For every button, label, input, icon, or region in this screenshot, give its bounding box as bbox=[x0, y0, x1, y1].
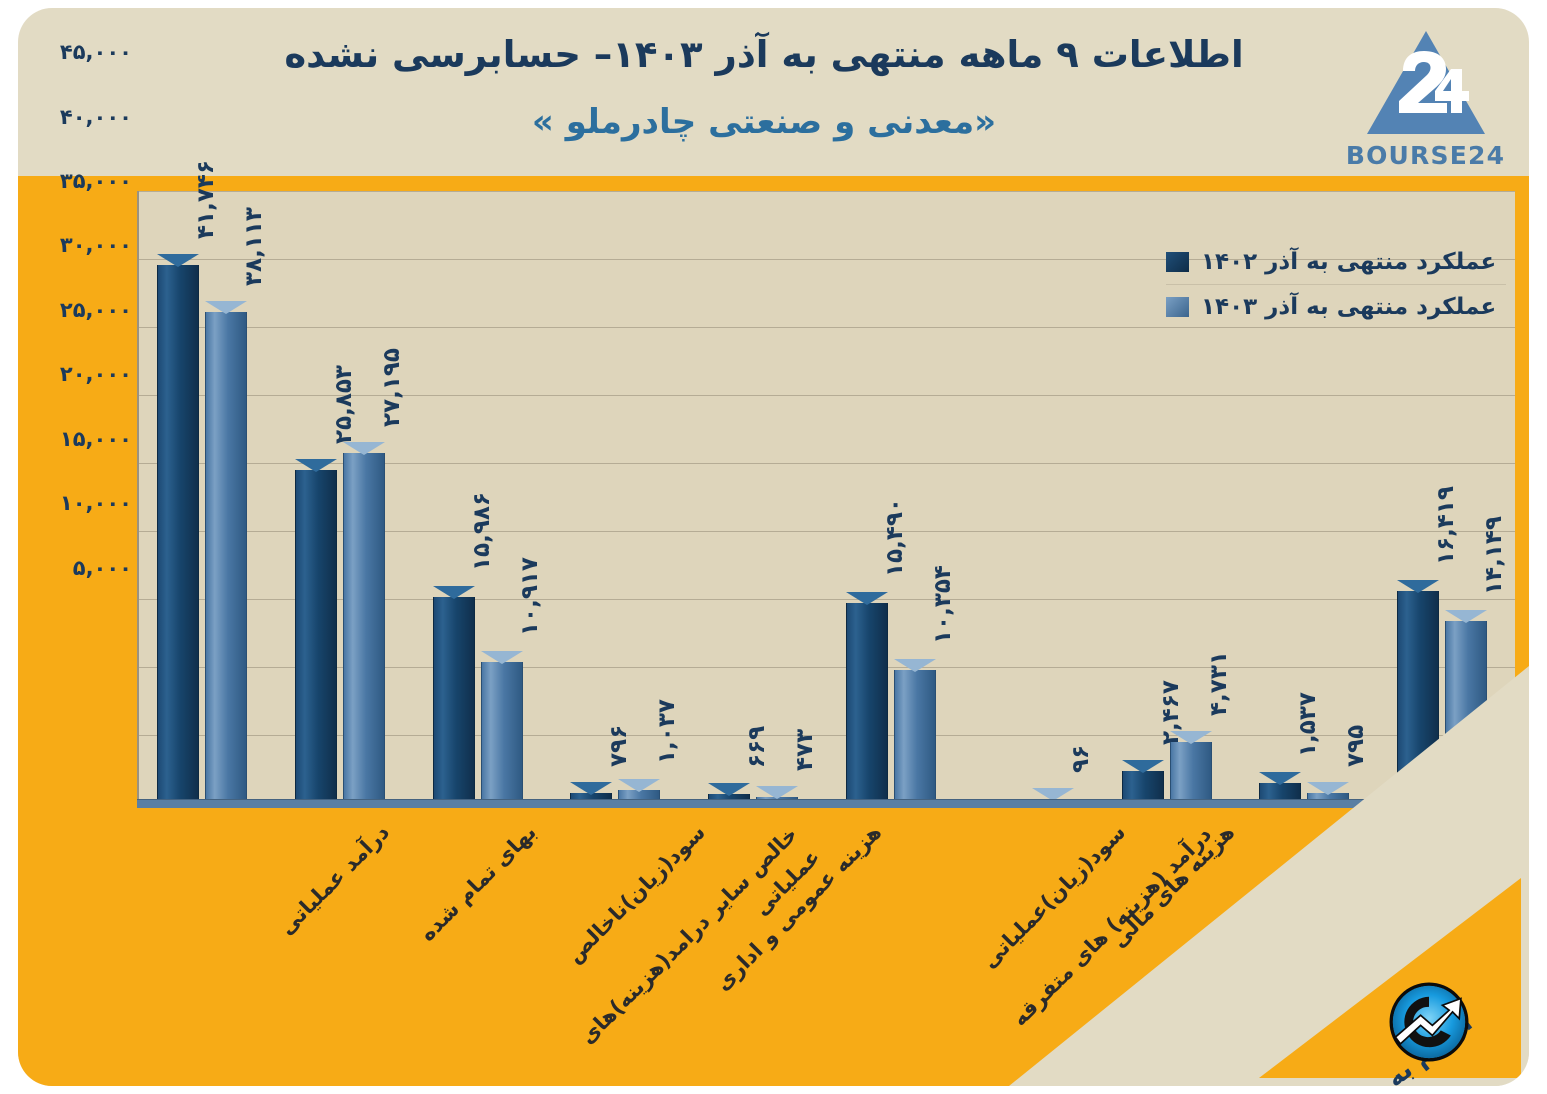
y-axis-tick: ۴۵,۰۰۰ bbox=[42, 40, 132, 64]
chart-legend: عملکرد منتهی به آذر ۱۴۰۲ عملکرد منتهی به… bbox=[1166, 240, 1506, 328]
y-axis-tick: ۵,۰۰۰ bbox=[42, 556, 132, 580]
legend-item-1403[interactable]: عملکرد منتهی به آذر ۱۴۰۳ bbox=[1166, 284, 1506, 328]
y-axis-tick: ۳۰,۰۰۰ bbox=[42, 233, 132, 257]
y-axis-tick: ۳۵,۰۰۰ bbox=[42, 169, 132, 193]
legend-swatch-1403-icon bbox=[1166, 297, 1189, 317]
y-axis-tick: ۱۰,۰۰۰ bbox=[42, 491, 132, 515]
y-axis-tick: ۱۵,۰۰۰ bbox=[42, 427, 132, 451]
legend-item-1402[interactable]: عملکرد منتهی به آذر ۱۴۰۲ bbox=[1166, 240, 1506, 284]
chart-card: BOURSE24 اطلاعات ۹ ماهه منتهی به آذر ۱۴۰… bbox=[18, 8, 1529, 1086]
y-axis-tick: ۲۰,۰۰۰ bbox=[42, 362, 132, 386]
y-axis-tick: ۴۰,۰۰۰ bbox=[42, 105, 132, 129]
y-axis-labels: ۴۵,۰۰۰۴۰,۰۰۰۳۵,۰۰۰۳۰,۰۰۰۲۵,۰۰۰۲۰,۰۰۰۱۵,۰… bbox=[18, 8, 1529, 918]
legend-label-1403: عملکرد منتهی به آذر ۱۴۰۳ bbox=[1201, 294, 1496, 320]
bourse24-arrow-badge-icon bbox=[1387, 980, 1471, 1064]
y-axis-tick: ۲۵,۰۰۰ bbox=[42, 298, 132, 322]
legend-label-1402: عملکرد منتهی به آذر ۱۴۰۲ bbox=[1201, 249, 1496, 275]
legend-swatch-1402-icon bbox=[1166, 252, 1189, 272]
